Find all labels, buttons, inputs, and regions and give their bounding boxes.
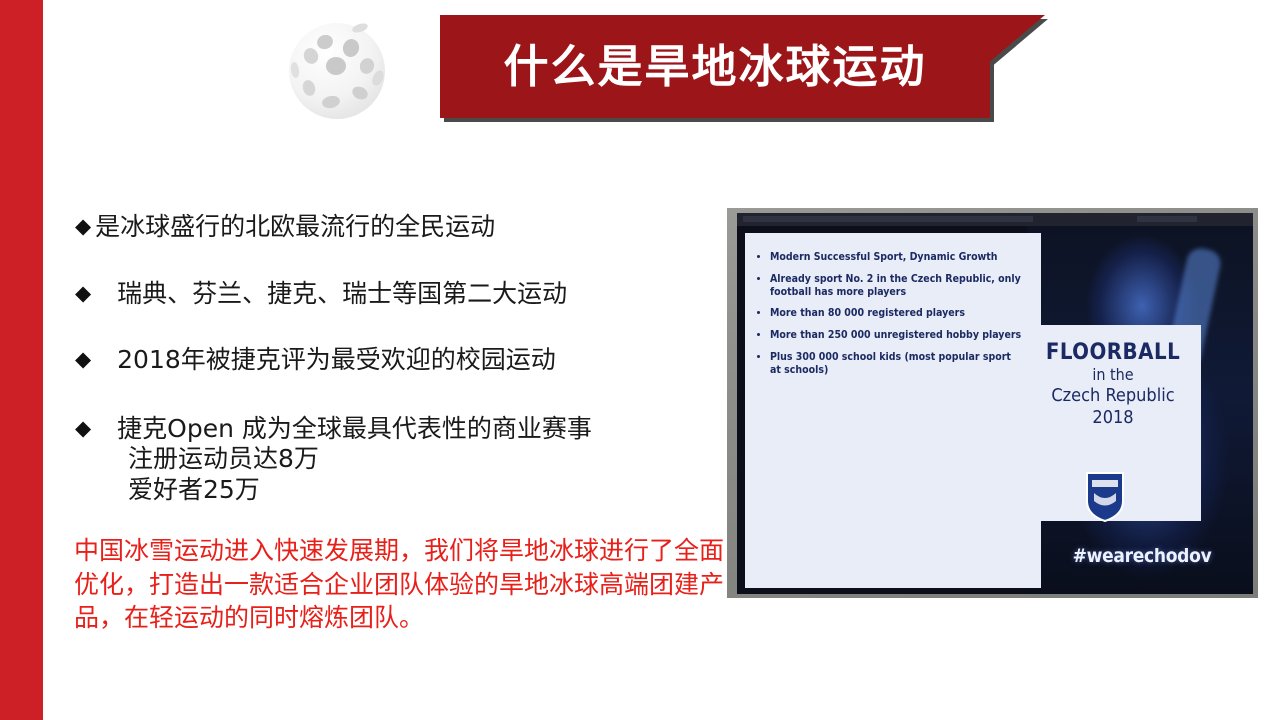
diamond-bullet-icon: ◆: [75, 212, 91, 242]
slide-root: 什么是旱地冰球运动 ◆ 是冰球盛行的北欧最流行的全民运动 ◆ 瑞典、芬兰、捷克、…: [0, 0, 1280, 720]
projected-bullet-1: Modern Successful Sport, Dynamic Growth: [770, 251, 1025, 264]
banner-tail: [987, 15, 1045, 64]
projected-bullet-4: More than 250 000 unregistered hobby pla…: [770, 329, 1025, 342]
bullet-item-1-label: 是冰球盛行的北欧最流行的全民运动: [91, 212, 715, 243]
screen-surface: Modern Successful Sport, Dynamic Growth …: [737, 213, 1253, 594]
diamond-bullet-icon: ◆: [75, 414, 91, 444]
bullet-list: ◆ 是冰球盛行的北欧最流行的全民运动 ◆ 瑞典、芬兰、捷克、瑞士等国第二大运动 …: [75, 212, 715, 505]
projected-title-line-1: FLOORBALL: [1027, 341, 1199, 365]
projected-title-line-4: 2018: [1027, 407, 1199, 429]
projected-slide-title-block: FLOORBALL in the Czech Republic 2018: [1027, 341, 1199, 428]
projected-slide-hashtag: #wearechodov: [1047, 545, 1237, 567]
bullet-item-2: ◆ 瑞典、芬兰、捷克、瑞士等国第二大运动: [75, 279, 715, 310]
title-banner: 什么是旱地冰球运动: [440, 15, 990, 118]
bullet-item-3: ◆ 2018年被捷克评为最受欢迎的校园运动: [75, 345, 715, 376]
diamond-bullet-icon: ◆: [75, 279, 91, 309]
screen-topbar-strip: [743, 216, 1033, 222]
bullet-spacer: [75, 376, 715, 414]
projected-bullet-2: Already sport No. 2 in the Czech Republi…: [770, 273, 1025, 299]
bullet-item-4-label: 捷克Open 成为全球最具代表性的商业赛事: [91, 414, 715, 445]
bullet-item-4-subline-1: 注册运动员达8万: [75, 444, 715, 475]
projected-bullet-5: Plus 300 000 school kids (most popular s…: [770, 351, 1025, 377]
bullet-spacer: [75, 243, 715, 279]
screen-topbar-strip-right: [1137, 216, 1197, 222]
bullet-spacer: [75, 309, 715, 345]
floorball-ball-icon: [281, 16, 393, 122]
bullet-item-3-label: 2018年被捷克评为最受欢迎的校园运动: [91, 345, 715, 376]
banner-plate: 什么是旱地冰球运动: [440, 15, 990, 118]
projected-slide-bullets: Modern Successful Sport, Dynamic Growth …: [757, 251, 1025, 386]
presentation-photo: Modern Successful Sport, Dynamic Growth …: [727, 208, 1258, 598]
bullet-item-4-subline-2: 爱好者25万: [75, 475, 715, 506]
highlight-paragraph: 中国冰雪运动进入快速发展期，我们将旱地冰球进行了全面优化，打造出一款适合企业团队…: [74, 534, 734, 635]
projected-title-line-3: Czech Republic: [1027, 385, 1199, 407]
bullet-item-2-label: 瑞典、芬兰、捷克、瑞士等国第二大运动: [91, 279, 715, 310]
projected-bullet-3: More than 80 000 registered players: [770, 307, 1025, 320]
bullet-item-1: ◆ 是冰球盛行的北欧最流行的全民运动: [75, 212, 715, 243]
diamond-bullet-icon: ◆: [75, 345, 91, 375]
left-accent-rail: [0, 0, 43, 720]
club-crest-icon: [1084, 471, 1126, 523]
page-title: 什么是旱地冰球运动: [503, 44, 926, 89]
bullet-item-4: ◆ 捷克Open 成为全球最具代表性的商业赛事: [75, 414, 715, 445]
projected-title-line-2: in the: [1027, 365, 1199, 385]
